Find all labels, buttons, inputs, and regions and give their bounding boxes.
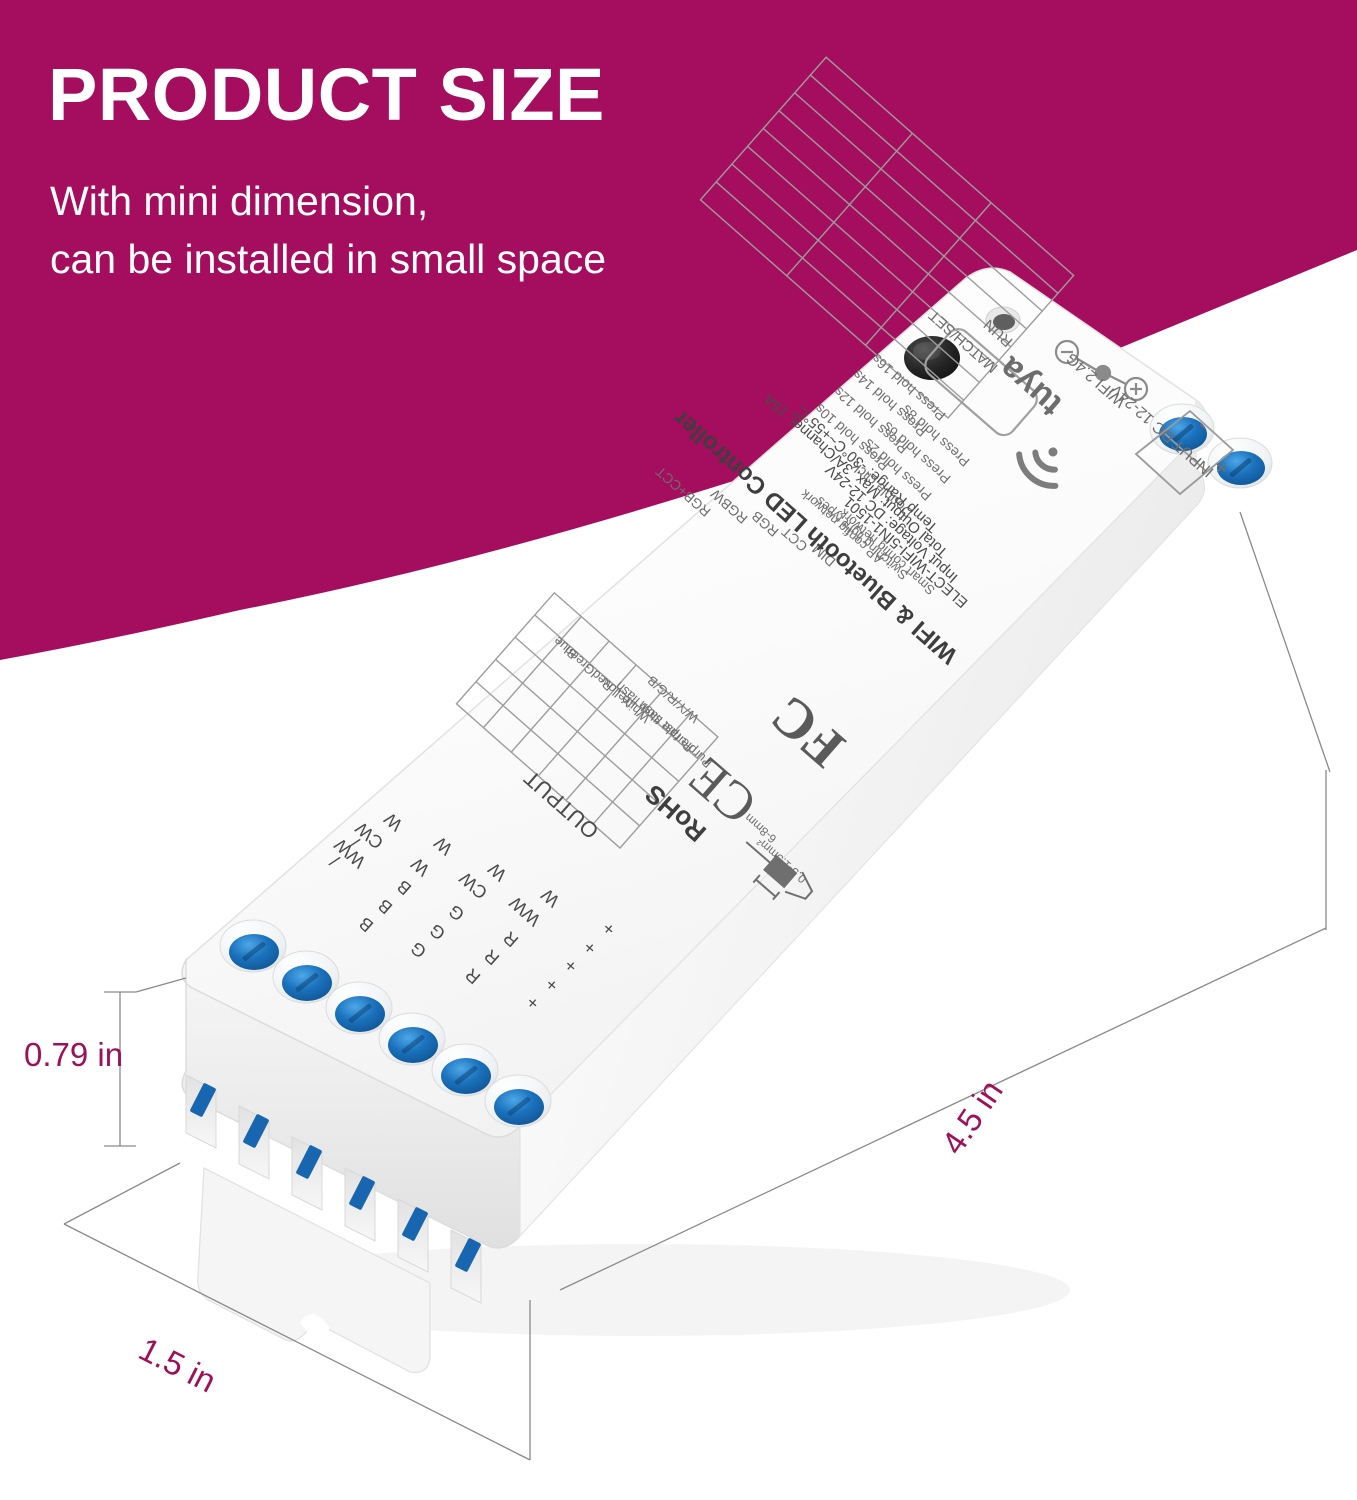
output-terminal-3 [326, 982, 392, 1034]
output-terminal-6 [485, 1075, 551, 1127]
dim-line-width-a [64, 1163, 180, 1224]
dimension-height-label: 0.79 in [24, 1036, 123, 1074]
output-terminal-2 [273, 951, 339, 1003]
output-terminal-5 [432, 1044, 498, 1096]
output-terminal-4 [379, 1013, 445, 1065]
output-terminal-1 [220, 920, 286, 972]
dim-line-length-a [1240, 512, 1330, 772]
product-photo: FC CE [0, 0, 1357, 1500]
